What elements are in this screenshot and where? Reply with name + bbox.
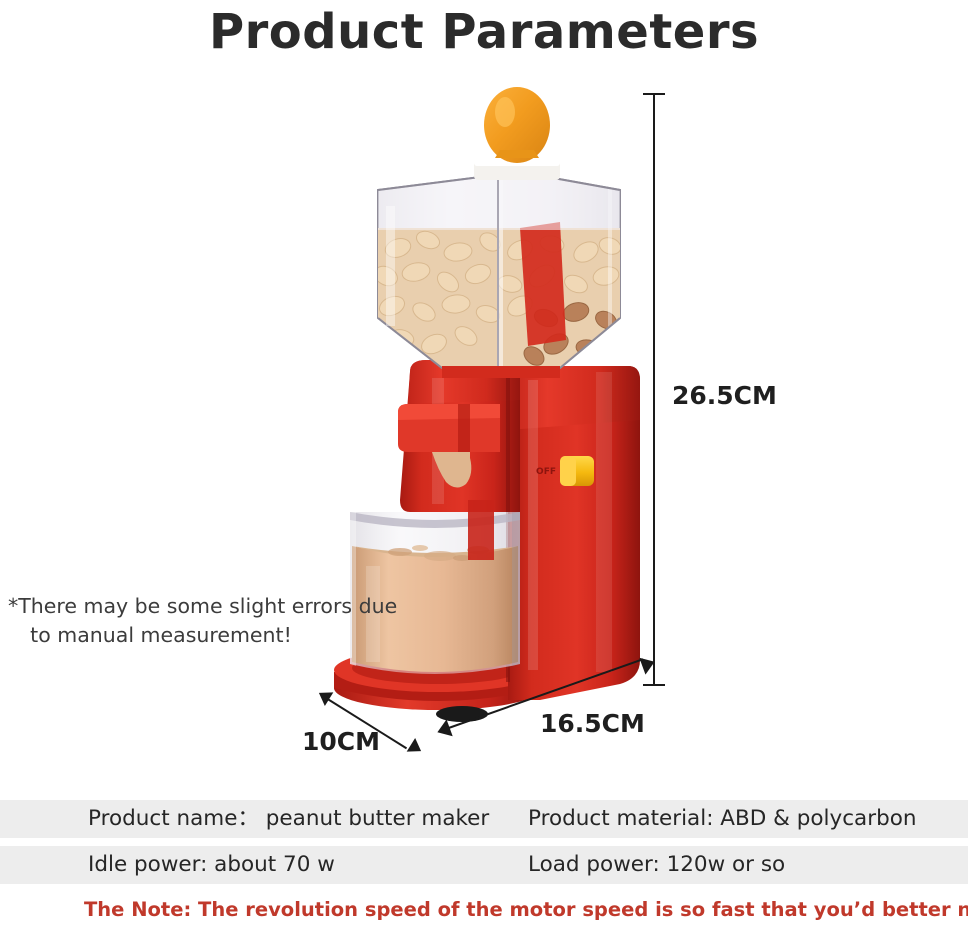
- switch-label: OFF: [536, 467, 556, 477]
- width-dimension-label: 16.5CM: [540, 709, 645, 738]
- measurement-disclaimer: *There may be some slight errors due to …: [8, 592, 348, 650]
- spec-idle-power: Idle power: about 70 w: [88, 846, 335, 884]
- height-dimension-line: [653, 93, 655, 685]
- collection-cup: [350, 512, 520, 674]
- product-parameters-page: Product Parameters: [0, 0, 968, 939]
- table-row: Product name： peanut butter maker Produc…: [0, 800, 968, 838]
- depth-dimension-label: 10CM: [302, 727, 380, 756]
- spec-product-name: Product name： peanut butter maker: [88, 800, 489, 838]
- height-dimension-cap-bottom: [643, 684, 665, 686]
- product-illustration: OFF: [0, 0, 968, 790]
- height-dimension-cap-top: [643, 93, 665, 95]
- spec-load-power: Load power: 120w or so: [528, 846, 785, 884]
- peanut-hopper: [370, 172, 630, 370]
- disclaimer-line-2: to manual measurement!: [8, 621, 348, 650]
- orange-knob: [484, 87, 550, 163]
- spec-table: Product name： peanut butter maker Produc…: [0, 800, 968, 892]
- table-row: Idle power: about 70 w Load power: 120w …: [0, 846, 968, 884]
- spec-note: The Note: The revolution speed of the mo…: [84, 898, 968, 921]
- height-dimension-label: 26.5CM: [672, 381, 777, 410]
- spec-product-material: Product material: ABD & polycarbon: [528, 800, 917, 838]
- disclaimer-line-1: *There may be some slight errors due: [8, 592, 348, 621]
